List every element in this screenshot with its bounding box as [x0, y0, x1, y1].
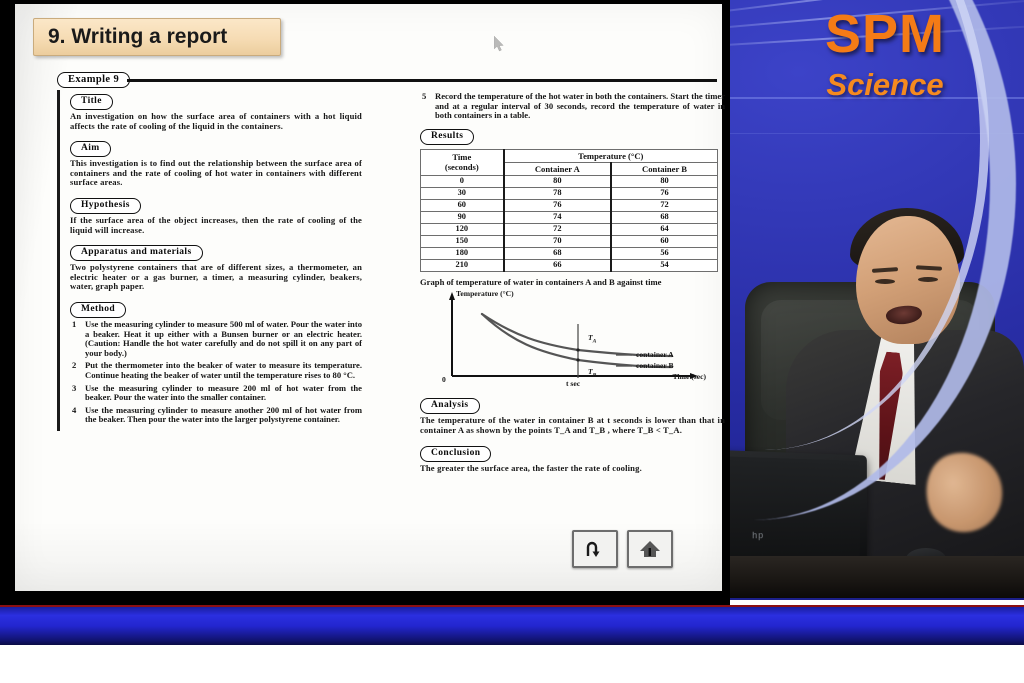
section-apparatus-body: Two polystyrene containers that are of d… — [70, 263, 362, 292]
method-step-number: 1 — [72, 320, 76, 330]
document-left-column: Title An investigation on how the surfac… — [57, 90, 362, 431]
section-title: Title An investigation on how the surfac… — [70, 90, 362, 131]
graph-x-axis-label: Time (sec) — [673, 372, 707, 381]
section-results: Results Time (seconds) Temperature (°C) — [420, 125, 725, 272]
logo-subtitle: Science — [770, 67, 1000, 103]
section-title-body: An investigation on how the surface area… — [70, 112, 362, 131]
cell-container-a: 74 — [504, 211, 611, 223]
section-conclusion-label: Conclusion — [420, 446, 491, 462]
cell-container-b: 64 — [611, 223, 717, 235]
cell-container-b: 72 — [611, 199, 717, 211]
section-aim: Aim This investigation is to find out th… — [70, 137, 362, 188]
graph-y-axis-label: Temperature (°C) — [456, 289, 514, 298]
graph-x-marker-label: t sec — [566, 379, 581, 388]
method-step-text: Use the measuring cylinder to measure 20… — [85, 383, 362, 403]
refresh-arrow-icon — [584, 539, 606, 559]
section-results-label: Results — [420, 129, 474, 145]
method-step-text: Use the measuring cylinder to measure an… — [85, 405, 362, 425]
cell-container-b: 60 — [611, 235, 717, 247]
cell-time: 120 — [421, 223, 504, 235]
method-step: 5 Record the temperature of the hot wate… — [420, 92, 725, 121]
results-col-time-text: Time — [452, 152, 471, 162]
graph-point-b-label: TB — [588, 367, 597, 379]
cell-container-a: 68 — [504, 247, 611, 259]
broadcast-screen: hp SPM Science 9. Writing a report Examp… — [0, 0, 1024, 683]
section-hypothesis: Hypothesis If the surface area of the ob… — [70, 194, 362, 235]
home-icon — [638, 539, 662, 559]
section-title-label: Title — [70, 94, 113, 110]
bottom-white-area — [0, 645, 1024, 683]
refresh-button[interactable] — [572, 530, 618, 568]
desk-surface — [690, 556, 1024, 598]
section-aim-body: This investigation is to find out the re… — [70, 159, 362, 188]
graph-origin-label: 0 — [442, 375, 446, 384]
graph-point-a-label: TA — [588, 333, 597, 345]
method-step-list: 1 Use the measuring cylinder to measure … — [70, 320, 362, 425]
cell-container-a: 80 — [504, 175, 611, 187]
table-row: 60 76 72 — [421, 199, 718, 211]
section-hypothesis-label: Hypothesis — [70, 198, 141, 214]
results-col-container-b: Container B — [611, 162, 717, 175]
example-header: Example 9 — [57, 72, 717, 88]
cooling-curve-graph: Temperature (°C) 0 t sec Time (sec) TA T… — [420, 288, 720, 392]
graph-caption: Graph of temperature of water in contain… — [420, 278, 725, 288]
table-row: 180 68 56 — [421, 247, 718, 259]
section-apparatus-label: Apparatus and materials — [70, 245, 203, 261]
section-analysis-body: The temperature of the water in containe… — [420, 416, 725, 435]
section-aim-label: Aim — [70, 141, 111, 157]
logo-title: SPM — [770, 6, 1000, 63]
cell-container-a: 66 — [504, 259, 611, 271]
section-analysis: Analysis The temperature of the water in… — [420, 394, 725, 435]
graph-legend-container-b: container B — [636, 361, 674, 370]
method-step: 1 Use the measuring cylinder to measure … — [70, 320, 362, 358]
home-button[interactable] — [627, 530, 673, 568]
method-step: 2 Put the thermometer into the beaker of… — [70, 361, 362, 380]
cell-time: 90 — [421, 211, 504, 223]
method-step-list-continued: 5 Record the temperature of the hot wate… — [420, 92, 725, 121]
document-frame: 9. Writing a report Example 9 Title An i… — [0, 0, 730, 596]
document-right-column: 5 Record the temperature of the hot wate… — [420, 90, 725, 479]
cell-container-b: 54 — [611, 259, 717, 271]
method-step-text: Record the temperature of the hot water … — [435, 91, 725, 120]
cell-time: 60 — [421, 199, 504, 211]
cell-time: 150 — [421, 235, 504, 247]
table-row: 0 80 80 — [421, 175, 718, 187]
section-hypothesis-body: If the surface area of the object increa… — [70, 216, 362, 235]
section-method-label: Method — [70, 302, 126, 318]
table-row: 210 66 54 — [421, 259, 718, 271]
method-step: 4 Use the measuring cylinder to measure … — [70, 406, 362, 425]
section-conclusion-body: The greater the surface area, the faster… — [420, 464, 725, 474]
chapter-title-text: 9. Writing a report — [48, 25, 227, 49]
cell-time: 30 — [421, 187, 504, 199]
cell-container-a: 78 — [504, 187, 611, 199]
results-col-time-unit: (seconds) — [445, 162, 479, 172]
cell-container-b: 68 — [611, 211, 717, 223]
section-apparatus: Apparatus and materials Two polystyrene … — [70, 241, 362, 292]
channel-logo: SPM Science — [770, 6, 1000, 103]
method-step: 3 Use the measuring cylinder to measure … — [70, 384, 362, 403]
cell-container-b: 80 — [611, 175, 717, 187]
method-step-number: 2 — [72, 361, 76, 371]
cell-container-a: 72 — [504, 223, 611, 235]
example-rule — [127, 79, 717, 82]
results-col-time: Time (seconds) — [421, 149, 504, 175]
section-conclusion: Conclusion The greater the surface area,… — [420, 442, 725, 474]
cell-container-b: 56 — [611, 247, 717, 259]
bottom-blue-banner — [0, 605, 1024, 645]
example-label: Example 9 — [57, 72, 130, 88]
scanned-page[interactable]: 9. Writing a report Example 9 Title An i… — [15, 4, 722, 591]
results-col-temperature: Temperature (°C) — [504, 149, 718, 162]
method-step-number: 5 — [422, 92, 426, 102]
table-row: 120 72 64 — [421, 223, 718, 235]
graph-text-layer: Temperature (°C) 0 t sec Time (sec) TA T… — [420, 288, 720, 392]
mouse-cursor — [494, 36, 505, 52]
results-table: Time (seconds) Temperature (°C) Containe… — [420, 149, 718, 272]
results-table-body: 0 80 80 30 78 76 60 76 — [421, 175, 718, 271]
method-step-number: 4 — [72, 406, 76, 416]
cell-time: 210 — [421, 259, 504, 271]
section-method: Method 1 Use the measuring cylinder to m… — [70, 298, 362, 425]
method-step-text: Put the thermometer into the beaker of w… — [85, 360, 362, 380]
table-row: 90 74 68 — [421, 211, 718, 223]
results-col-container-a: Container A — [504, 162, 611, 175]
cell-container-b: 76 — [611, 187, 717, 199]
section-analysis-label: Analysis — [420, 398, 480, 414]
table-row: 30 78 76 — [421, 187, 718, 199]
cell-container-a: 76 — [504, 199, 611, 211]
laptop-brand-logo: hp — [752, 530, 764, 540]
table-row: 150 70 60 — [421, 235, 718, 247]
chapter-title-plate: 9. Writing a report — [33, 18, 281, 56]
cell-time: 0 — [421, 175, 504, 187]
cell-time: 180 — [421, 247, 504, 259]
black-letterbox-bar — [0, 591, 730, 605]
graph-legend-container-a: container A — [636, 350, 674, 359]
method-step-number: 3 — [72, 384, 76, 394]
cell-container-a: 70 — [504, 235, 611, 247]
method-step-text: Use the measuring cylinder to measure 50… — [85, 319, 362, 358]
